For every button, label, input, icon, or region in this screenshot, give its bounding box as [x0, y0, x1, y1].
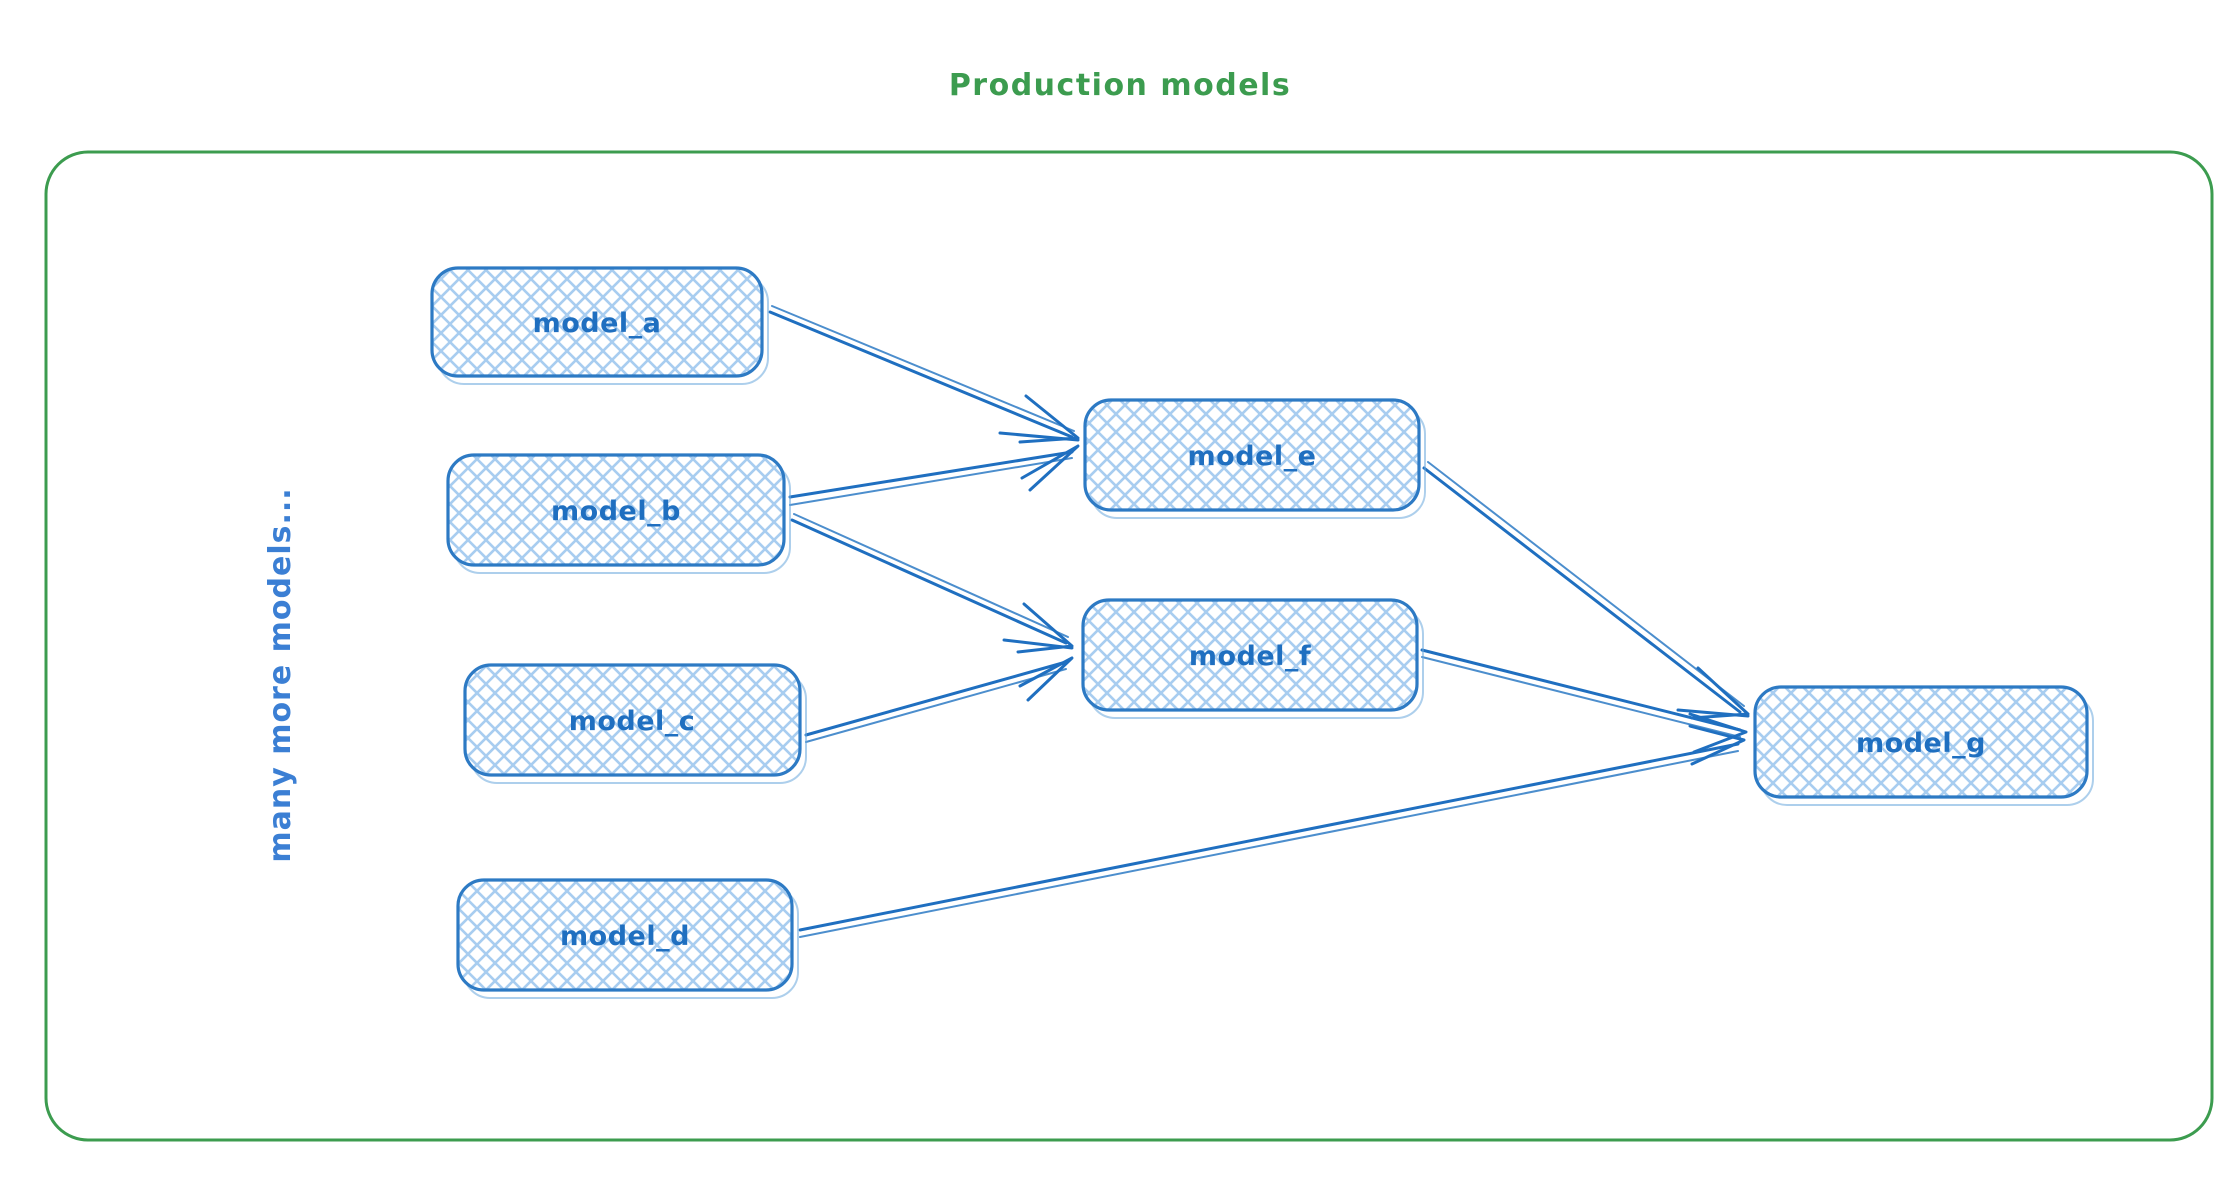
- node-model-b[interactable]: model_b: [448, 455, 790, 573]
- diagram-canvas: Production models many more models...: [0, 0, 2240, 1188]
- node-label: model_g: [1856, 728, 1986, 759]
- edge-model-d-to-model-g: [800, 726, 1744, 937]
- node-label: model_b: [551, 496, 681, 527]
- edge-model-b-to-model-e: [790, 446, 1078, 505]
- node-model-e[interactable]: model_e: [1085, 400, 1425, 518]
- edge-model-e-to-model-g: [1424, 462, 1748, 718]
- node-model-c[interactable]: model_c: [465, 665, 806, 783]
- node-label: model_e: [1188, 441, 1317, 472]
- lineage-diagram: Production models many more models...: [0, 0, 2240, 1188]
- edge-model-b-to-model-f: [792, 514, 1072, 652]
- edge-model-c-to-model-f: [806, 658, 1072, 742]
- node-model-a[interactable]: model_a: [432, 268, 768, 384]
- node-label: model_c: [569, 706, 696, 737]
- node-model-g[interactable]: model_g: [1755, 687, 2093, 805]
- nodes-layer: model_a model_b model_c model_d mode: [432, 268, 2093, 998]
- node-model-f[interactable]: model_f: [1083, 600, 1423, 718]
- many-more-models-note: many more models...: [263, 487, 298, 862]
- node-label: model_a: [533, 308, 662, 339]
- node-label: model_d: [560, 921, 690, 952]
- many-more-models-label: many more models...: [263, 487, 298, 862]
- group-title: Production models: [949, 68, 1291, 103]
- node-model-d[interactable]: model_d: [458, 880, 798, 998]
- edge-model-a-to-model-e: [770, 306, 1078, 442]
- edge-model-f-to-model-g: [1422, 650, 1746, 752]
- node-label: model_f: [1189, 641, 1311, 672]
